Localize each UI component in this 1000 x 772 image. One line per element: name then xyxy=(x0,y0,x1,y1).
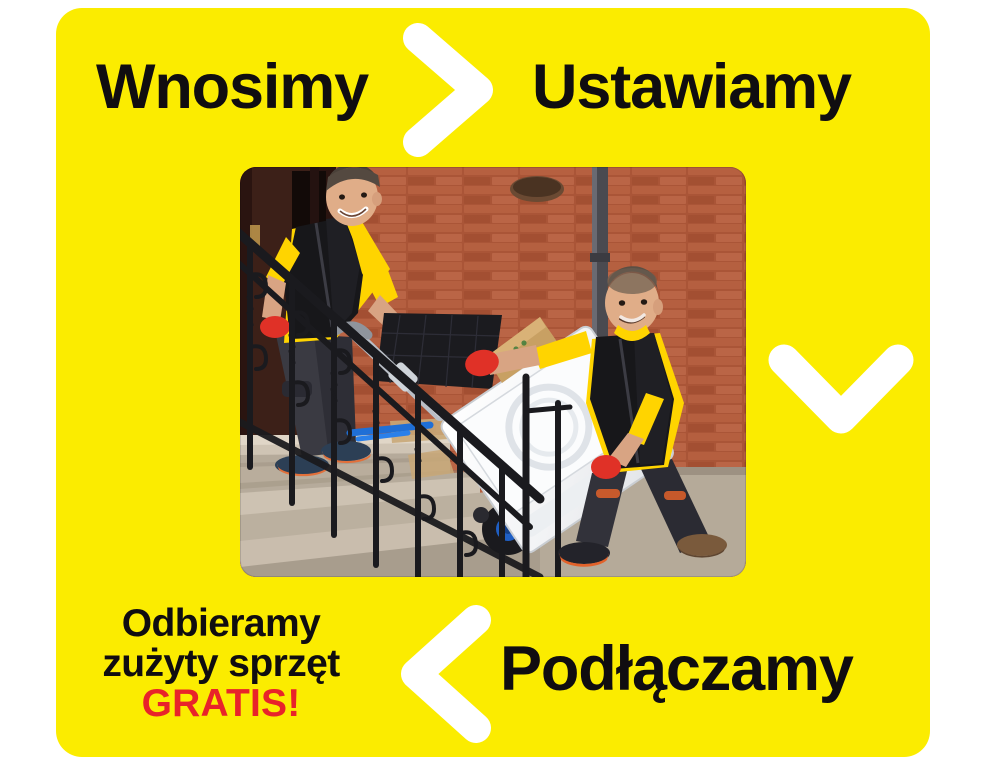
headline-podlaczamy: Podłączamy xyxy=(500,638,853,701)
hero-photo: Dwóch pracowników w czarnych kamizelkach… xyxy=(240,167,746,577)
text-line-odbieramy: Odbieramy xyxy=(62,604,380,644)
chevron-down-icon xyxy=(766,336,916,444)
bottom-left-text-block: Odbieramy zużyty sprzęt GRATIS! xyxy=(62,604,380,723)
chevron-right-icon xyxy=(404,22,508,158)
text-line-zuzyty-sprzet: zużyty sprzęt xyxy=(62,644,380,684)
promo-banner: Wnosimy Ustawiamy Odbieramy zużyty sprzę… xyxy=(0,0,1000,772)
chevron-left-icon xyxy=(386,602,490,746)
headline-ustawiamy: Ustawiamy xyxy=(532,56,851,119)
text-line-gratis: GRATIS! xyxy=(62,684,380,724)
headline-wnosimy: Wnosimy xyxy=(96,56,368,119)
